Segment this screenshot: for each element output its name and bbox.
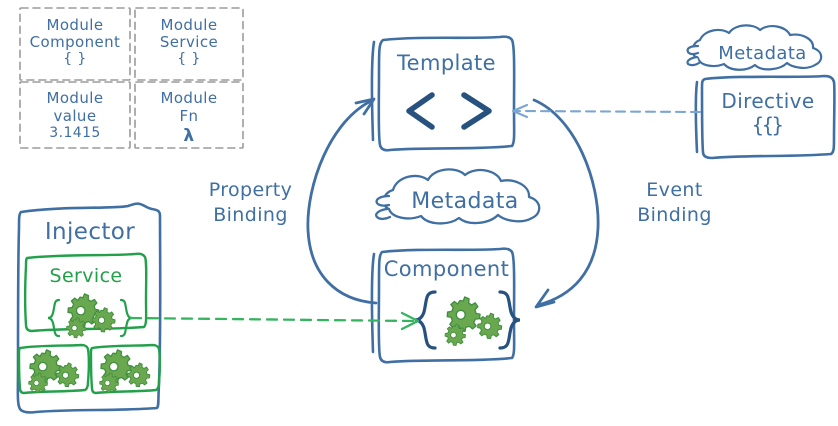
directive-title: Directive bbox=[702, 90, 834, 112]
module-cell-1-line1: Module bbox=[20, 17, 130, 34]
injector-extra-box-2-gears bbox=[100, 350, 150, 393]
module-cell-2-line2: Service bbox=[135, 34, 243, 51]
module-cell-4-line3: λ bbox=[135, 127, 243, 146]
directive-metadata-label: Metadata bbox=[700, 44, 825, 64]
module-cell-4-line2: Fn bbox=[135, 108, 243, 125]
center-metadata-label: Metadata bbox=[390, 190, 540, 215]
module-cell-4-line1: Module bbox=[135, 90, 243, 107]
injector-title: Injector bbox=[20, 220, 160, 246]
template-title: Template bbox=[379, 52, 514, 76]
module-cell-3-line2: value bbox=[20, 108, 130, 125]
property-binding-label-line2: Binding bbox=[188, 203, 313, 229]
injector-extra-box-1-gears bbox=[29, 350, 79, 393]
injector-to-component-arrow bbox=[131, 313, 418, 329]
property-binding-arrow bbox=[308, 99, 376, 303]
module-cell-3-line1: Module bbox=[20, 90, 130, 107]
event-binding-label-line1: Event bbox=[612, 178, 737, 204]
component-gears bbox=[445, 297, 502, 345]
template-code-brackets bbox=[409, 95, 489, 127]
module-cell-2-line1: Module bbox=[135, 17, 243, 34]
property-binding-label-line1: Property bbox=[188, 178, 313, 204]
diagram-canvas: Module Component { } Module Service { } … bbox=[0, 0, 838, 426]
event-binding-arrow bbox=[534, 100, 598, 307]
module-cell-1-line3: { } bbox=[20, 52, 130, 68]
event-binding-label-line2: Binding bbox=[612, 203, 737, 229]
service-gears bbox=[66, 294, 115, 338]
directive-to-template-arrow bbox=[513, 105, 700, 117]
module-cell-1-line2: Component bbox=[20, 34, 130, 51]
component-title: Component bbox=[379, 258, 514, 282]
injector-service-title: Service bbox=[26, 266, 146, 287]
module-cell-2-line3: { } bbox=[135, 52, 243, 68]
directive-brace-pair: { } bbox=[702, 114, 834, 136]
module-cell-3-line3: 3.1415 bbox=[20, 126, 130, 142]
